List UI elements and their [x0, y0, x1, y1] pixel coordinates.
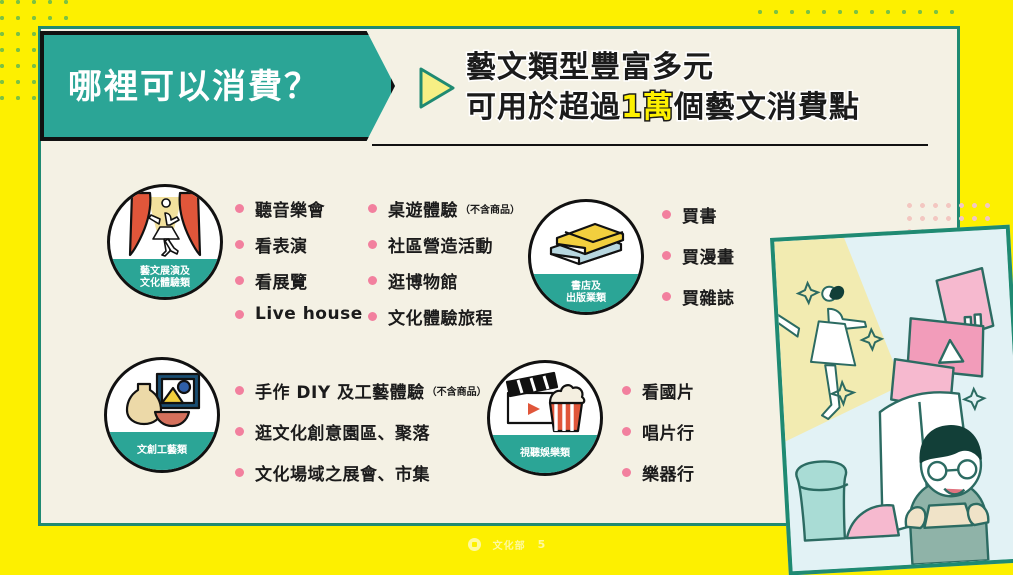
label-line-2: 文化體驗類 [140, 278, 190, 289]
title-line-2: 可用於超過1萬個藝文消費點 [466, 88, 936, 128]
bullet-dot-icon [235, 310, 244, 319]
slide-canvas: 哪裡可以消費？ 藝文類型豐富多元 可用於超過1萬個藝文消費點 [0, 0, 1013, 570]
bullet-dot-icon [622, 468, 631, 477]
footer: 文化部 5 [0, 532, 1013, 556]
list-item-label: 文化場域之展會、市集 [255, 460, 430, 485]
list-item-label: 看展覽 [255, 268, 308, 293]
list-item: 看國片 [622, 378, 695, 403]
bullet-dot-icon [368, 276, 377, 285]
pottery-vase-frame-icon [107, 360, 217, 436]
category-icon-performing-arts: 藝文展演及文化體驗類 [107, 184, 223, 300]
bullet-dot-icon [235, 386, 244, 395]
label-line-1: 視聽娛樂類 [520, 448, 570, 461]
list-item-label: 買書 [682, 202, 717, 227]
list-item: 買雜誌 [662, 284, 735, 309]
bullet-list-audiovisual-entertainment: 看國片 唱片行 樂器行 [622, 378, 695, 496]
bullet-dot-icon [662, 251, 671, 260]
list-item-label: 買雜誌 [682, 284, 735, 309]
list-item: Live house [235, 304, 363, 324]
list-item: 唱片行 [622, 419, 695, 444]
list-item: 買漫畫 [662, 243, 735, 268]
category-label-audiovisual-entertainment: 視聽娛樂類 [490, 435, 600, 473]
list-item-note: （不含商品） [460, 201, 520, 216]
list-item-label: 買漫畫 [682, 243, 735, 268]
bullet-dot-icon [622, 386, 631, 395]
bullet-list-performing-arts-col2: 桌遊體驗（不含商品） 社區營造活動 逛博物館 文化體驗旅程 [368, 196, 520, 340]
label-line-1: 書店及 [571, 281, 601, 292]
list-item: 手作 DIY 及工藝體驗（不含商品） [235, 378, 487, 403]
bullet-list-cultural-creative-crafts: 手作 DIY 及工藝體驗（不含商品） 逛文化創意園區、聚落 文化場域之展會、市集 [235, 378, 487, 496]
list-item: 桌遊體驗（不含商品） [368, 196, 520, 221]
list-item-label: 社區營造活動 [388, 232, 493, 257]
list-item: 看展覽 [235, 268, 363, 293]
label-line-1: 文創工藝類 [137, 445, 187, 458]
list-item: 買書 [662, 202, 735, 227]
ministry-logo-icon [468, 538, 481, 551]
title-line-1: 藝文類型豐富多元 [466, 48, 936, 88]
list-item: 文化場域之展會、市集 [235, 460, 487, 485]
list-item: 樂器行 [622, 460, 695, 485]
category-icon-cultural-creative-crafts: 文創工藝類 [104, 357, 220, 473]
list-item: 逛博物館 [368, 268, 520, 293]
bullet-dot-icon [235, 427, 244, 436]
category-label-bookstore-publishing: 書店及出版業類 [531, 274, 641, 312]
ballerina-books-reader-illustration [770, 225, 1013, 575]
title-line-2-after: 個藝文消費點 [674, 90, 860, 125]
list-item-label: 看表演 [255, 232, 308, 257]
category-icon-audiovisual-entertainment: 視聽娛樂類 [487, 360, 603, 476]
bullet-dot-icon [368, 204, 377, 213]
list-item: 逛文化創意園區、聚落 [235, 419, 487, 444]
list-item: 社區營造活動 [368, 232, 520, 257]
category-label-cultural-creative-crafts: 文創工藝類 [107, 432, 217, 470]
clapperboard-popcorn-icon [490, 363, 600, 439]
bullet-dot-icon [368, 312, 377, 321]
bullet-dot-icon [235, 240, 244, 249]
list-item: 文化體驗旅程 [368, 304, 520, 329]
bullet-dot-icon [235, 204, 244, 213]
illustration-art [774, 229, 1013, 571]
list-item-label: Live house [255, 304, 363, 324]
list-item-label: 文化體驗旅程 [388, 304, 493, 329]
bullet-dot-icon [622, 427, 631, 436]
list-item: 聽音樂會 [235, 196, 363, 221]
bullet-dot-icon [662, 210, 671, 219]
bullet-dot-icon [368, 240, 377, 249]
page-number: 5 [538, 538, 546, 551]
list-item: 看表演 [235, 232, 363, 257]
list-item-label: 樂器行 [642, 460, 695, 485]
theater-stage-ballerina-icon [110, 187, 220, 263]
list-item-label: 手作 DIY 及工藝體驗 [255, 378, 425, 403]
bullet-dot-icon [235, 468, 244, 477]
list-item-note: （不含商品） [427, 383, 487, 398]
category-icon-bookstore-publishing: 書店及出版業類 [528, 199, 644, 315]
label-line-2: 出版業類 [566, 293, 606, 304]
list-item-label: 看國片 [642, 378, 695, 403]
list-item-label: 桌遊體驗 [388, 196, 458, 221]
footer-logo-text: 文化部 [493, 537, 526, 552]
list-item-label: 逛博物館 [388, 268, 458, 293]
list-item-label: 聽音樂會 [255, 196, 325, 221]
list-item-label: 逛文化創意園區、聚落 [255, 419, 430, 444]
bullet-list-bookstore-publishing: 買書 買漫畫 買雜誌 [662, 202, 735, 320]
title-divider [372, 144, 928, 146]
list-item-label: 唱片行 [642, 419, 695, 444]
bullet-dot-icon [235, 276, 244, 285]
title-line-2-before: 可用於超過 [466, 90, 621, 125]
category-label-performing-arts: 藝文展演及文化體驗類 [110, 259, 220, 297]
stacked-books-icon [531, 202, 641, 278]
bullet-list-performing-arts-col1: 聽音樂會 看表演 看展覽 Live house [235, 196, 363, 335]
bullet-dot-icon [662, 292, 671, 301]
speech-bubble-text: 哪裡可以消費？ [44, 59, 320, 108]
speech-bubble: 哪裡可以消費？ [40, 31, 395, 141]
page-title: 藝文類型豐富多元 可用於超過1萬個藝文消費點 [466, 48, 936, 128]
title-highlight: 1萬 [621, 90, 674, 125]
play-triangle-icon [409, 62, 461, 114]
label-line-1: 藝文展演及 [140, 266, 190, 277]
